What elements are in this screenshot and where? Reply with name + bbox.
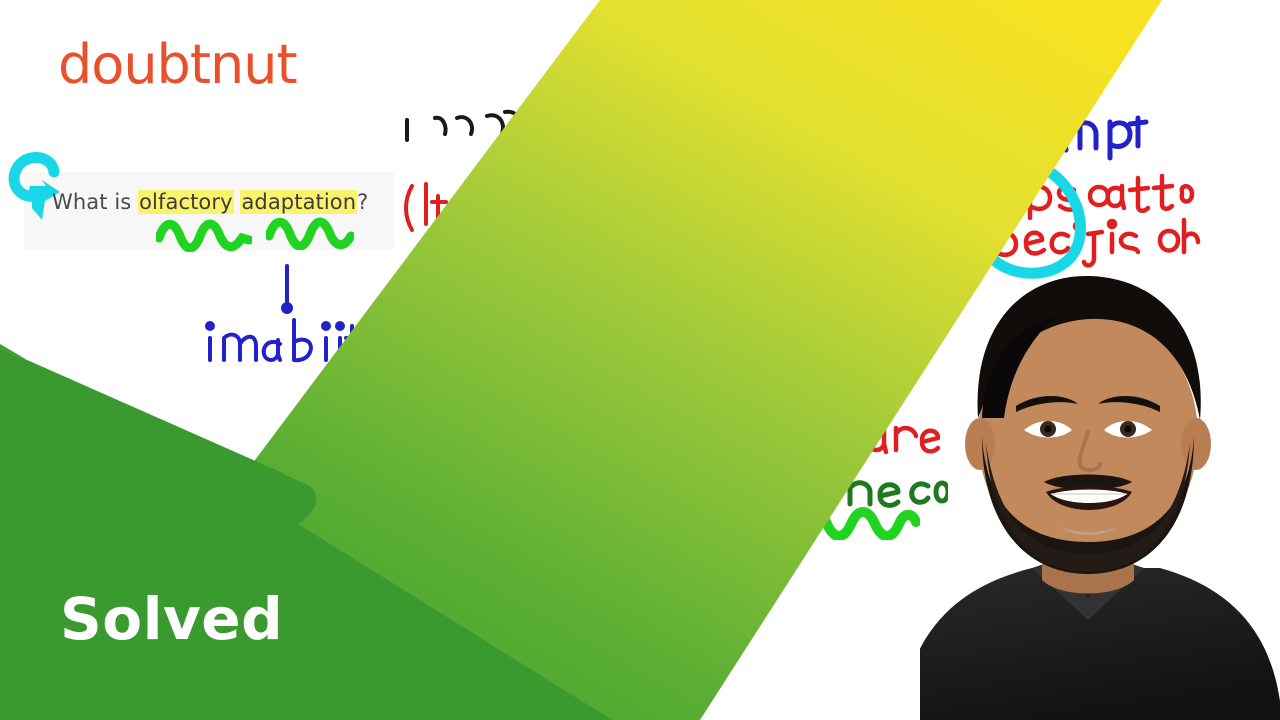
red-annotation-olfa	[400, 178, 520, 238]
question-highlight-olfactory: olfactory	[138, 190, 234, 214]
solved-badge-label: Solved	[60, 590, 283, 648]
blue-annotation-inability	[200, 312, 420, 392]
green-squiggle-adaptation	[266, 216, 354, 250]
question-prefix: What is	[52, 190, 138, 214]
question-suffix: ?	[357, 190, 368, 214]
green-squiggle-olfactory	[156, 218, 252, 252]
red-annotation-posure	[770, 412, 940, 470]
question-text: What is olfactory adaptation?	[52, 190, 368, 214]
black-handwriting-annotation	[395, 100, 565, 170]
question-highlight-adaptation: adaptation	[240, 190, 357, 214]
green-squiggle-bottom	[800, 504, 920, 540]
doubtnut-logo: doubtnut	[58, 38, 297, 92]
video-thumbnail: What is olfactory adaptation?	[0, 0, 1280, 720]
presenter-portrait	[920, 268, 1280, 720]
